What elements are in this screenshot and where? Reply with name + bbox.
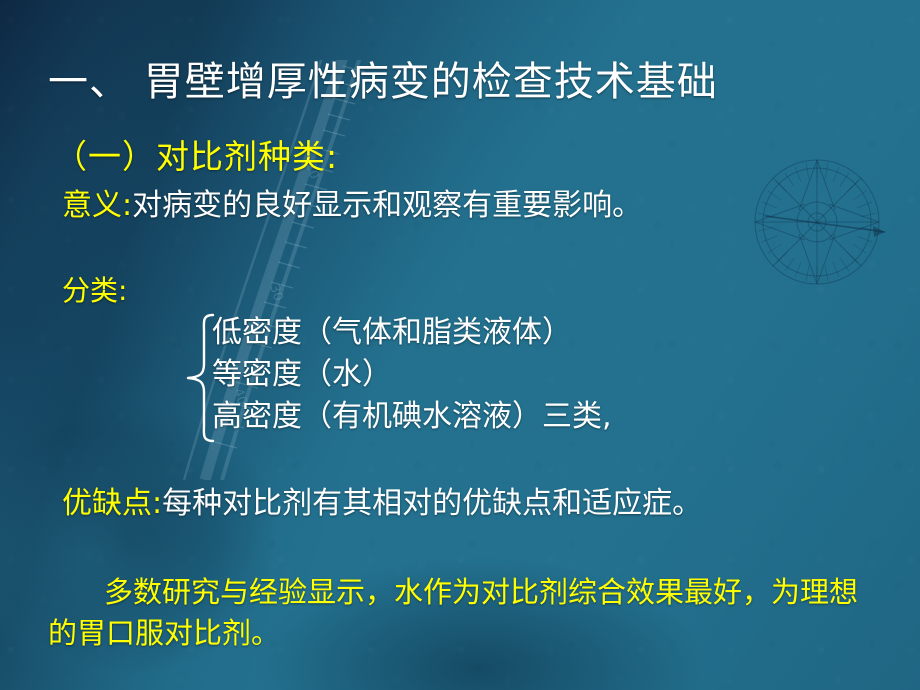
classification-label: 分类: [62,277,127,305]
conclusion-paragraph: 多数研究与经验显示，水作为对比剂综合效果最好，为理想的胃口服对比剂。 [48,572,878,654]
pros-cons-text: 每种对比剂有其相对的优缺点和适应症。 [162,486,702,521]
meaning-text: 对病变的良好显示和观察有重要影响。 [132,188,642,223]
section-heading: （一）对比剂种类: [54,140,338,173]
pros-cons-line: 优缺点:每种对比剂有其相对的优缺点和适应症。 [62,489,702,519]
slide-title: 一、 胃壁增厚性病变的检查技术基础 [48,62,718,102]
category-item: 低密度（气体和脂类液体） [212,318,572,348]
pros-cons-label: 优缺点: [62,486,162,521]
svg-text:30: 30 [266,283,285,303]
category-item: 等密度（水） [212,360,392,390]
meaning-label: 意义: [62,188,132,223]
category-item: 高密度（有机碘水溶液）三类, [212,402,612,432]
meaning-line: 意义:对病变的良好显示和观察有重要影响。 [62,191,642,221]
presentation-slide: 20 30 40 一、 胃壁增厚性病变的检查技术基础 （一）对比剂种类: 意义:… [0,0,920,690]
compass-rose-icon [735,140,900,305]
